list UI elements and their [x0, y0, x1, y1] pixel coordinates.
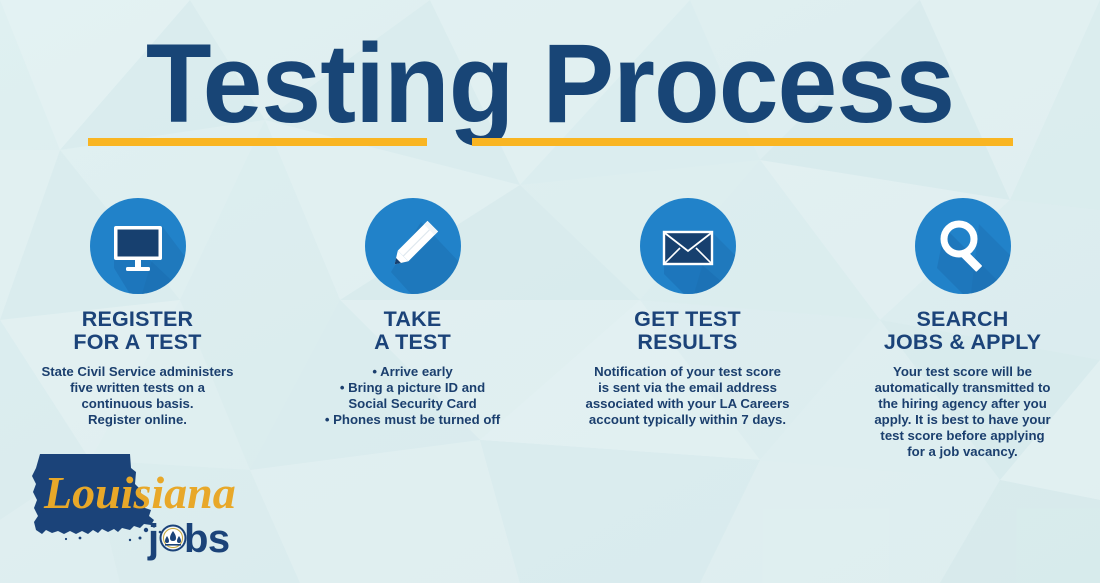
step-register-for-a-test: REGISTER FOR A TEST State Civil Service …: [0, 198, 275, 428]
step-heading: SEARCH JOBS & APPLY: [833, 308, 1092, 354]
list-item: • Bring a picture ID and Social Security…: [283, 380, 542, 412]
step-get-test-results: GET TEST RESULTS Notification of your te…: [550, 198, 825, 428]
step-take-a-test: TAKE A TEST • Arrive early • Bring a pic…: [275, 198, 550, 428]
monitor-icon: [90, 198, 186, 294]
step-search-jobs-and-apply: SEARCH JOBS & APPLY Your test score will…: [825, 198, 1100, 460]
page-title: Testing Process: [146, 28, 954, 140]
step-body: Your test score will be automatically tr…: [833, 364, 1092, 460]
envelope-icon: [640, 198, 736, 294]
step-body: Notification of your test score is sent …: [558, 364, 817, 428]
page-title-block: Testing Process: [0, 28, 1100, 140]
steps-row: REGISTER FOR A TEST State Civil Service …: [0, 198, 1100, 460]
state-seal-icon: [160, 524, 187, 551]
list-item: • Phones must be turned off: [283, 412, 542, 428]
step-heading: GET TEST RESULTS: [558, 308, 817, 354]
title-underline: [88, 138, 1013, 146]
magnifier-icon: [915, 198, 1011, 294]
step-bullets: • Arrive early • Bring a picture ID and …: [283, 364, 542, 428]
logo-word-jobs: j: [147, 517, 159, 561]
logo-word-jobs-bs: bs: [184, 517, 230, 561]
title-underline-right: [472, 138, 1013, 146]
step-heading: TAKE A TEST: [283, 308, 542, 354]
pencil-icon: [365, 198, 461, 294]
louisiana-jobs-logo: Louisiana j bs: [18, 446, 258, 566]
list-item: • Arrive early: [283, 364, 542, 380]
title-underline-left: [88, 138, 427, 146]
logo-script-word: Louisiana: [43, 467, 236, 518]
step-heading: REGISTER FOR A TEST: [8, 308, 267, 354]
step-body: State Civil Service administers five wri…: [8, 364, 267, 428]
